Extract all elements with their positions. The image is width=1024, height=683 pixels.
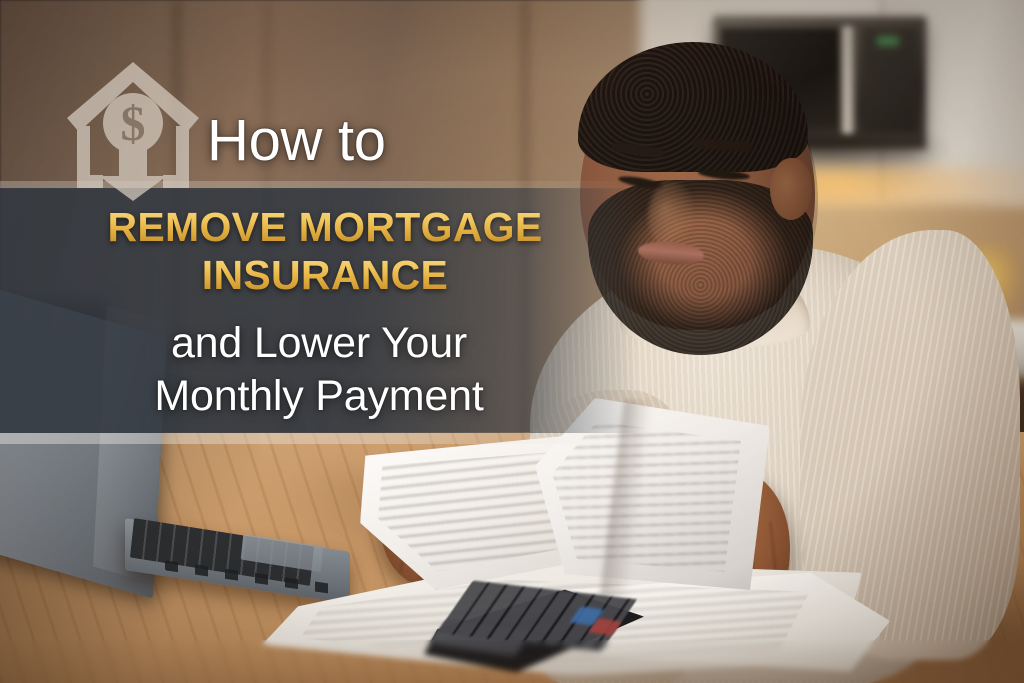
hero-banner: $ How to REMOVE MORTGAGE INSURANCE and L… <box>0 0 1024 683</box>
headline-group: How to REMOVE MORTGAGE INSURANCE and Low… <box>0 0 660 460</box>
headline-gold-line-2: INSURANCE <box>60 255 590 296</box>
headline-sub-line-1: and Lower Your <box>54 322 584 365</box>
headline-sub-line-2: Monthly Payment <box>54 375 584 418</box>
headline-gold-line-1: REMOVE MORTGAGE <box>60 207 590 248</box>
headline-kicker: How to <box>207 112 386 170</box>
foreground-depth-blur <box>0 640 1024 683</box>
